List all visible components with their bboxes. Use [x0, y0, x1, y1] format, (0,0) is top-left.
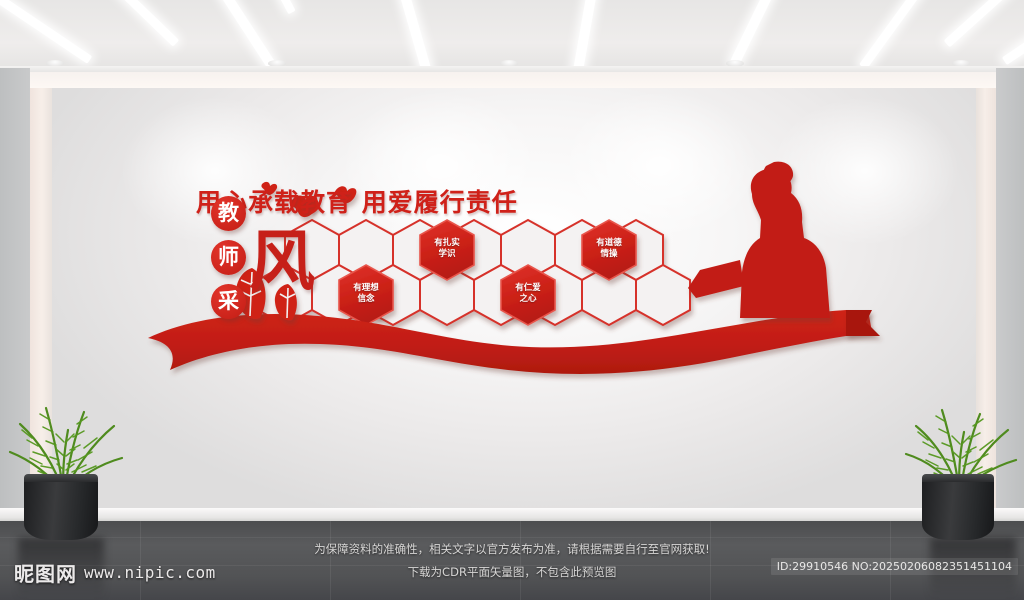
- ceiling-light-strip: [573, 0, 603, 72]
- watermark: 昵图网 www.nipic.com: [14, 558, 216, 587]
- title-circle-cai: 采: [211, 284, 246, 319]
- plant-pot: [922, 474, 994, 540]
- potted-palm-right: [900, 382, 1024, 540]
- baseboard: [0, 508, 1024, 522]
- potted-palm-left: [2, 382, 132, 540]
- floor-tile-line: [710, 521, 711, 600]
- floor-tile-line: [520, 521, 521, 600]
- pot-rim: [24, 474, 98, 482]
- ribbon-tail-right: [846, 310, 880, 336]
- watermark-brand-cn: 昵图网: [14, 558, 77, 587]
- watermark-url: www.nipic.com: [84, 563, 216, 582]
- ceiling-light-strip: [0, 0, 92, 64]
- calligraphy-feng: 风: [249, 228, 315, 294]
- ceiling-light-strip: [859, 0, 937, 70]
- ceiling-light-strip: [389, 0, 432, 72]
- ceiling-light-strip: [76, 0, 179, 47]
- teacher-silhouette: [688, 162, 830, 318]
- ceiling-light-strip: [203, 0, 277, 70]
- ceiling-light-strip: [944, 0, 1024, 47]
- title-circle-shi: 师: [211, 240, 246, 275]
- ceiling-light-strip: [1002, 0, 1024, 65]
- footer-disclaimer-line1: 为保障资料的准确性，相关文字以官方发布为准，请根据需要自行至官网获取!: [0, 541, 1024, 557]
- screenshot-root: 有理想 信念 有扎实 学识 有仁爱 之心 有道德 情操 用心承载教育 用爱履行责…: [0, 0, 1024, 600]
- floor-tile-line: [0, 537, 1024, 538]
- wall-cove-light: [30, 72, 996, 88]
- floor-tile-line: [330, 521, 331, 600]
- ceiling-light-strip: [729, 0, 791, 67]
- ceiling-light-strip: [260, 0, 295, 14]
- asset-id-tag: ID:29910546 NO:20250206082351451104: [771, 558, 1018, 575]
- pot-rim: [922, 474, 994, 482]
- title-circle-jiao: 教: [211, 196, 246, 231]
- plant-pot: [24, 474, 98, 540]
